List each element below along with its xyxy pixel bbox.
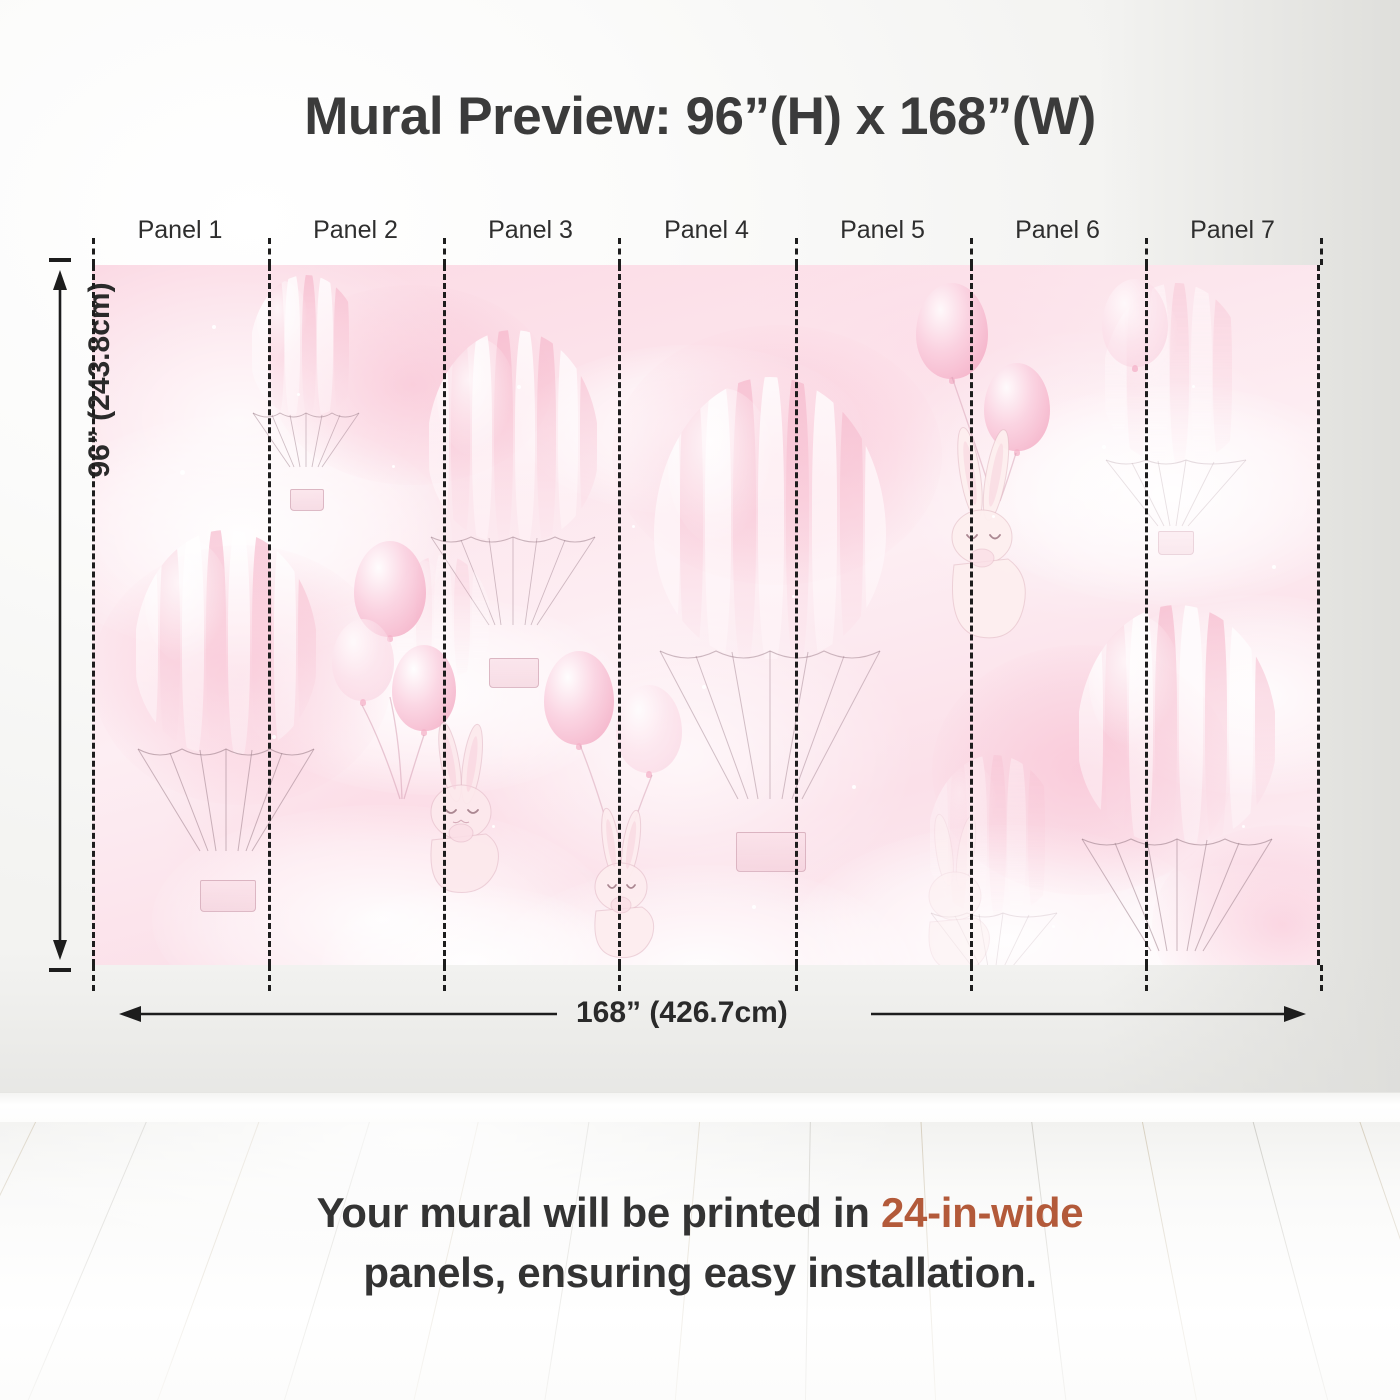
balloon-basket [1158, 531, 1194, 555]
panel-label-2: Panel 2 [268, 216, 443, 245]
party-balloon [916, 283, 988, 379]
panel-divider-1 [268, 265, 271, 965]
party-balloon [544, 651, 614, 745]
balloon-basket [290, 489, 324, 511]
panel-divider-stub-5 [970, 238, 973, 265]
hot-air-balloon [250, 275, 362, 415]
panel-label-1: Panel 1 [92, 216, 268, 245]
sparkle [852, 785, 856, 789]
sparkle [632, 525, 635, 528]
panel-divider-stub-1 [268, 238, 271, 265]
panel-label-7: Panel 7 [1145, 216, 1320, 245]
panel-label-4: Panel 4 [618, 216, 795, 245]
panel-divider-stub-3 [618, 238, 621, 265]
party-balloon [332, 619, 394, 701]
balloon-envelope [1077, 605, 1277, 843]
panel-divider-stub-6 [1145, 238, 1148, 265]
cloud [492, 865, 912, 965]
mural-preview-artwork[interactable] [92, 265, 1320, 965]
panel-divider-7 [1317, 265, 1320, 965]
panel-label-5: Panel 5 [795, 216, 970, 245]
panel-divider-footstub-5 [970, 965, 973, 991]
hot-air-balloon [654, 377, 886, 659]
panel-divider-2 [443, 265, 446, 965]
panel-divider-stub-0 [92, 238, 95, 265]
panel-divider-5 [970, 265, 973, 965]
bunny-character [910, 810, 1006, 965]
caption-text: Your mural will be printed in 24-in-wide… [0, 1183, 1400, 1302]
sparkle [1192, 385, 1195, 388]
balloon-envelope [427, 330, 599, 542]
sparkle [272, 735, 276, 739]
bunny-character [930, 425, 1038, 645]
sparkle [992, 515, 995, 518]
panel-label-3: Panel 3 [443, 216, 618, 245]
hot-air-balloon [1077, 605, 1277, 843]
panel-divider-0 [92, 265, 95, 965]
baseboard [0, 1092, 1400, 1123]
balloon-rigging [1102, 454, 1250, 532]
sparkle [1052, 925, 1055, 928]
hot-air-balloon [134, 530, 318, 754]
sparkle [1242, 825, 1245, 828]
panel-divider-6 [1145, 265, 1148, 965]
page-title: Mural Preview: 96”(H) x 168”(W) [0, 86, 1400, 147]
party-balloon [1102, 279, 1168, 367]
height-dimension-arrow [45, 252, 75, 978]
sparkle [517, 385, 521, 389]
caption-accent-width: 24-in-wide [881, 1189, 1083, 1236]
height-dimension-label: 96” (243.8cm) [83, 220, 117, 540]
panel-divider-stub-2 [443, 238, 446, 265]
panel-divider-3 [618, 265, 621, 965]
sparkle [212, 325, 216, 329]
panel-divider-footstub-2 [443, 965, 446, 991]
balloon-envelope [654, 377, 886, 659]
balloon-envelope [250, 275, 362, 415]
balloon-envelope [134, 530, 318, 754]
panel-divider-footstub-4 [795, 965, 798, 991]
bunny-character [578, 805, 670, 960]
panel-divider-stub-4 [795, 238, 798, 265]
panel-label-6: Panel 6 [970, 216, 1145, 245]
sparkle [702, 685, 706, 689]
panel-divider-footstub-3 [618, 965, 621, 991]
balloon-basket [489, 658, 539, 688]
hot-air-balloon [427, 330, 599, 542]
panel-divider-4 [795, 265, 798, 965]
panel-divider-footstub-7 [1320, 965, 1323, 991]
sparkle [752, 905, 756, 909]
sparkle [1102, 445, 1106, 449]
width-dimension-label: 168” (426.7cm) [562, 996, 802, 1030]
caption-line-2: panels, ensuring easy installation. [0, 1243, 1400, 1303]
panel-divider-footstub-1 [268, 965, 271, 991]
sparkle [392, 465, 395, 468]
panel-divider-stub-7 [1320, 238, 1323, 265]
balloon-rigging [250, 409, 362, 471]
caption-line-1-lead: Your mural will be printed in [317, 1189, 881, 1236]
balloon-basket [200, 880, 256, 912]
panel-divider-footstub-0 [92, 965, 95, 991]
balloon-rigging [1077, 829, 1277, 961]
sparkle [180, 470, 185, 475]
sparkle [492, 825, 495, 828]
balloon-rigging [134, 741, 318, 859]
sparkle [1272, 565, 1276, 569]
sparkle [297, 393, 300, 396]
caption-line-1: Your mural will be printed in 24-in-wide [0, 1183, 1400, 1243]
panel-divider-footstub-6 [1145, 965, 1148, 991]
bunny-character [410, 720, 520, 900]
